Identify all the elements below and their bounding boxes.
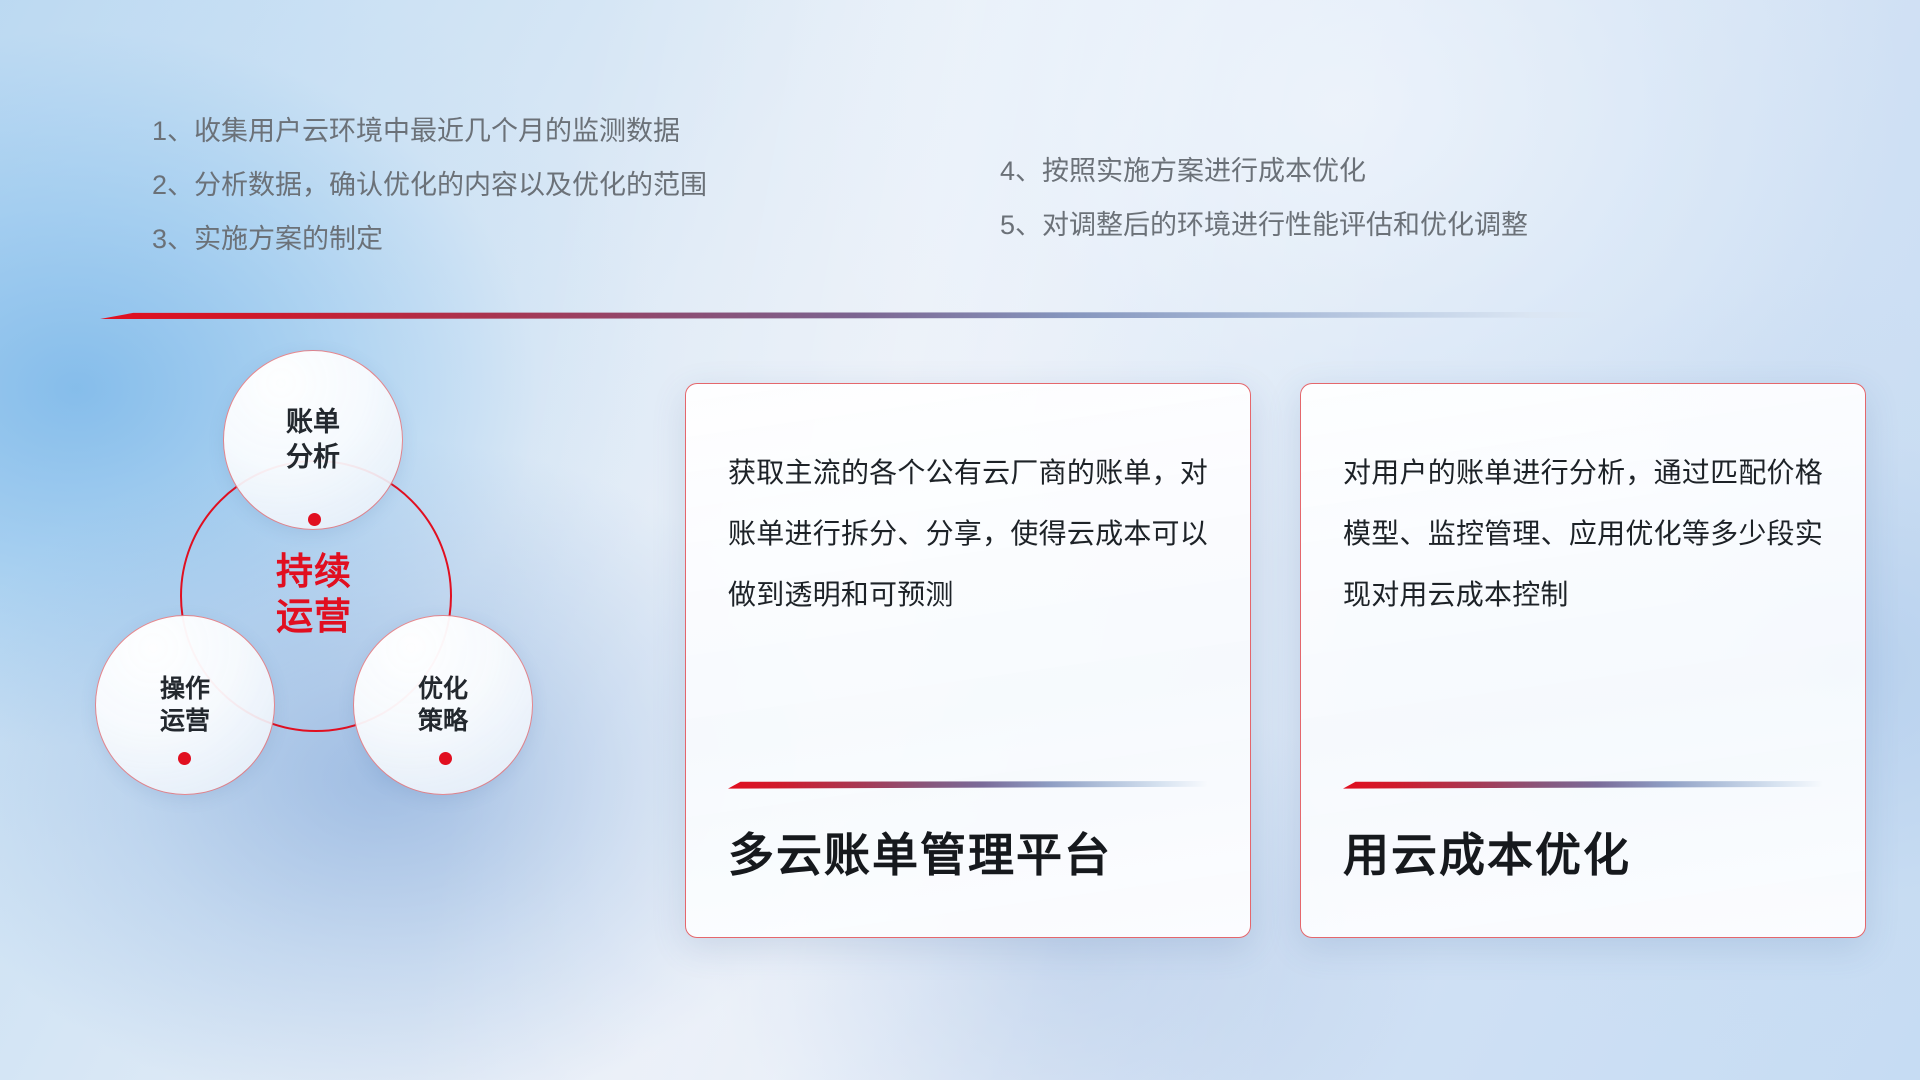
card-2-title: 用云成本优化	[1343, 819, 1823, 885]
step-number-5: 5、	[1000, 212, 1042, 239]
step-text-3: 实施方案的制定	[194, 226, 383, 253]
step-item-2: 2、 分析数据，确认优化的内容以及优化的范围	[152, 172, 872, 199]
step-number-2: 2、	[152, 172, 194, 199]
node-dot-right-icon	[439, 752, 452, 765]
card-2-rule	[1343, 781, 1823, 791]
step-item-3: 3、 实施方案的制定	[152, 226, 872, 253]
steps-list-left: 1、 收集用户云环境中最近几个月的监测数据 2、 分析数据，确认优化的内容以及优…	[152, 118, 872, 280]
center-ring-label: 持续 运营	[180, 460, 448, 728]
card-1-rule	[728, 781, 1208, 791]
center-label-line-2: 运营	[276, 594, 352, 639]
lobe-top-line-1: 账单	[286, 405, 340, 440]
slide-canvas: 1、 收集用户云环境中最近几个月的监测数据 2、 分析数据，确认优化的内容以及优…	[0, 0, 1920, 1080]
step-text-4: 按照实施方案进行成本优化	[1042, 158, 1366, 185]
node-dot-top-icon	[308, 513, 321, 526]
info-card-cloud-cost-optimization[interactable]: 对用户的账单进行分析，通过匹配价格模型、监控管理、应用优化等多少段实现对用云成本…	[1300, 383, 1866, 938]
step-text-1: 收集用户云环境中最近几个月的监测数据	[194, 118, 680, 145]
step-item-4: 4、 按照实施方案进行成本优化	[1000, 158, 1760, 185]
steps-list-right: 4、 按照实施方案进行成本优化 5、 对调整后的环境进行性能评估和优化调整	[1000, 158, 1760, 266]
step-item-1: 1、 收集用户云环境中最近几个月的监测数据	[152, 118, 872, 145]
info-card-multicloud-billing[interactable]: 获取主流的各个公有云厂商的账单，对账单进行拆分、分享，使得云成本可以做到透明和可…	[685, 383, 1251, 938]
card-1-title: 多云账单管理平台	[728, 819, 1208, 885]
continuous-operation-diagram: 持续 运营 账单 分析 操作 运营 优化 策略	[95, 350, 615, 930]
card-1-body: 获取主流的各个公有云厂商的账单，对账单进行拆分、分享，使得云成本可以做到透明和可…	[728, 442, 1208, 625]
card-2-body: 对用户的账单进行分析，通过匹配价格模型、监控管理、应用优化等多少段实现对用云成本…	[1343, 442, 1823, 625]
step-text-2: 分析数据，确认优化的内容以及优化的范围	[194, 172, 707, 199]
step-text-5: 对调整后的环境进行性能评估和优化调整	[1042, 212, 1528, 239]
section-divider	[100, 312, 1608, 321]
step-number-3: 3、	[152, 226, 194, 253]
step-number-4: 4、	[1000, 158, 1042, 185]
node-dot-left-icon	[178, 752, 191, 765]
center-label-line-1: 持续	[276, 549, 352, 594]
step-item-5: 5、 对调整后的环境进行性能评估和优化调整	[1000, 212, 1760, 239]
step-number-1: 1、	[152, 118, 194, 145]
